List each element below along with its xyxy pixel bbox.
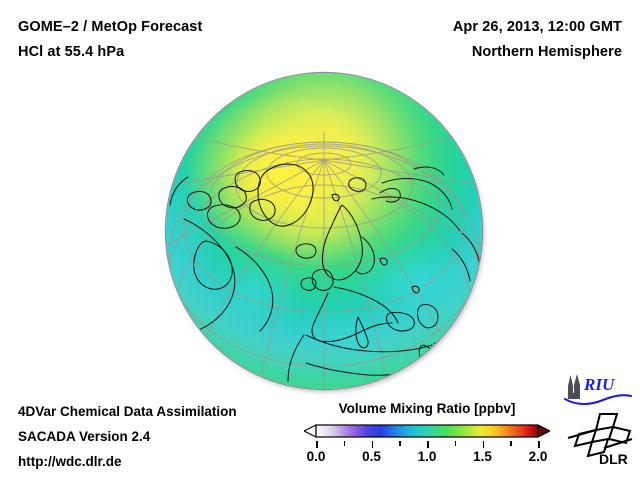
- colorbar-ticks: [316, 441, 538, 448]
- header-instrument-line: GOME–2 / MetOp Forecast: [18, 19, 202, 35]
- colorbar-tick-labels: 0.0 0.5 1.0 1.5 2.0: [304, 449, 550, 469]
- footer-version-line: SACADA Version 2.4: [18, 429, 150, 444]
- colorbar-tick-label: 1.0: [418, 449, 437, 464]
- dlr-logo: DLR: [566, 412, 634, 466]
- colorbar-extend-low: [304, 425, 316, 437]
- colorbar-title: Volume Mixing Ratio [ppbv]: [316, 401, 538, 416]
- colorbar-extend-high: [538, 425, 550, 437]
- riu-logo: RIU: [561, 373, 633, 407]
- dlr-wordmark: DLR: [599, 451, 628, 466]
- footer-method-line: 4DVar Chemical Data Assimilation: [18, 404, 237, 419]
- dlr-pinwheel-icon: [568, 414, 632, 456]
- colorbar-tick-label: 0.0: [307, 449, 326, 464]
- cathedral-spires-icon: [568, 374, 580, 399]
- colorbar-tick-label: 2.0: [529, 449, 548, 464]
- colorbar: [304, 421, 550, 441]
- footer-url-link[interactable]: http://wdc.dlr.de: [18, 454, 122, 469]
- header-species-line: HCl at 55.4 hPa: [18, 44, 124, 60]
- colorbar-gradient: [316, 425, 538, 437]
- riu-wordmark: RIU: [583, 375, 615, 394]
- globe-disk: [166, 73, 482, 389]
- globe-limb-shading: [166, 73, 482, 389]
- header-datetime: Apr 26, 2013, 12:00 GMT: [453, 19, 622, 35]
- colorbar-tick-label: 1.5: [473, 449, 492, 464]
- colorbar-tick-label: 0.5: [362, 449, 381, 464]
- globe-map: [166, 73, 482, 389]
- header-region: Northern Hemisphere: [472, 44, 622, 60]
